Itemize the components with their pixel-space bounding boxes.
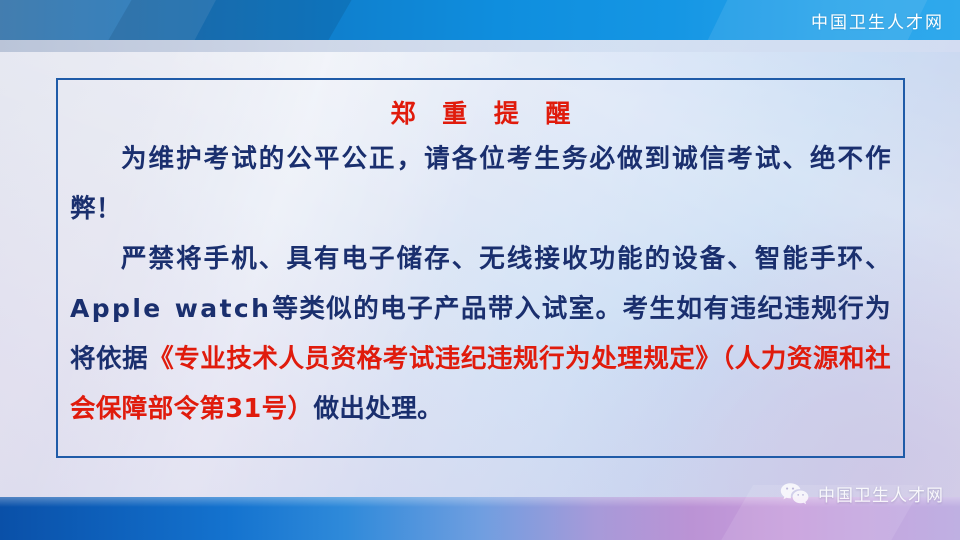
wechat-icon	[780, 482, 810, 506]
notice-paragraph-2-regulation-title: 《专业技术人员资格考试违纪违规行为处理规定》（人力资源和社会保障部令第31号）	[70, 344, 891, 424]
notice-paragraph-2-segment-a: 严禁将手机、具有电子储存、无线接收功能的设备、智能手环、	[121, 244, 891, 274]
header-underband	[0, 40, 960, 52]
notice-paragraph-1: 为维护考试的公平公正，请各位考生务必做到诚信考试、绝不作弊！	[66, 134, 895, 234]
notice-paragraph-2: 严禁将手机、具有电子储存、无线接收功能的设备、智能手环、Apple watch等…	[66, 234, 895, 434]
notice-paragraph-1-text: 为维护考试的公平公正，请各位考生务必做到诚信考试、绝不作弊！	[70, 144, 891, 224]
slide-canvas: 中国卫生人才网 郑 重 提 醒 为维护考试的公平公正，请各位考生务必做到诚信考试…	[0, 0, 960, 540]
notice-paragraph-2-segment-c: 做出处理。	[314, 394, 444, 424]
header-site-title: 中国卫生人才网	[811, 8, 944, 33]
notice-box-inner: 郑 重 提 醒 为维护考试的公平公正，请各位考生务必做到诚信考试、绝不作弊！ 严…	[58, 80, 903, 456]
notice-box: 郑 重 提 醒 为维护考试的公平公正，请各位考生务必做到诚信考试、绝不作弊！ 严…	[56, 78, 905, 458]
notice-paragraph-2-latin-term: Apple watch	[70, 294, 271, 323]
notice-title: 郑 重 提 醒	[66, 100, 895, 128]
wechat-watermark: 中国卫生人才网	[780, 481, 944, 506]
watermark-label: 中国卫生人才网	[818, 481, 944, 506]
top-header-bar: 中国卫生人才网	[0, 0, 960, 40]
